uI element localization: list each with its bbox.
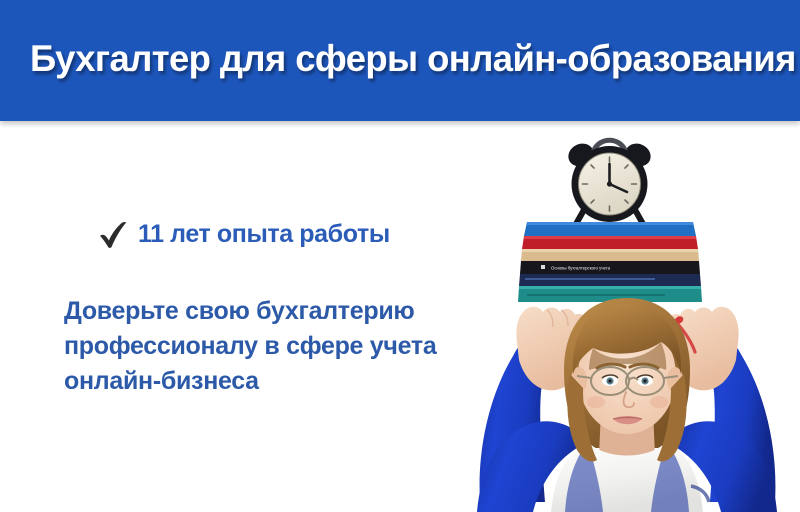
experience-tagline-label: 11 лет опыта работы xyxy=(138,220,390,248)
pitch-line-3: онлайн-бизнеса xyxy=(64,364,494,399)
header-banner: Бухгалтер для сферы онлайн-образования xyxy=(0,0,800,121)
pitch-line-2: профессионалу в сфере учета xyxy=(64,329,494,364)
book-stack: Основы бухгалтерского учета xyxy=(518,222,702,302)
accountant-illustration: Основы бухгалтерского учета xyxy=(455,130,800,512)
pitch-paragraph: Доверьте свою бухгалтерию профессионалу … xyxy=(64,294,494,399)
poster-root: Бухгалтер для сферы онлайн-образования 1… xyxy=(0,0,800,512)
pitch-line-1: Доверьте свою бухгалтерию xyxy=(64,294,494,329)
copy-block: 11 лет опыта работы Доверьте свою бухгал… xyxy=(0,121,500,512)
accountant-photo: Основы бухгалтерского учета xyxy=(455,130,800,512)
check-mark-icon xyxy=(98,221,128,249)
book-spine-label: Основы бухгалтерского учета xyxy=(551,266,611,271)
page-title: Бухгалтер для сферы онлайн-образования xyxy=(30,37,771,81)
experience-tagline: 11 лет опыта работы xyxy=(98,219,390,249)
